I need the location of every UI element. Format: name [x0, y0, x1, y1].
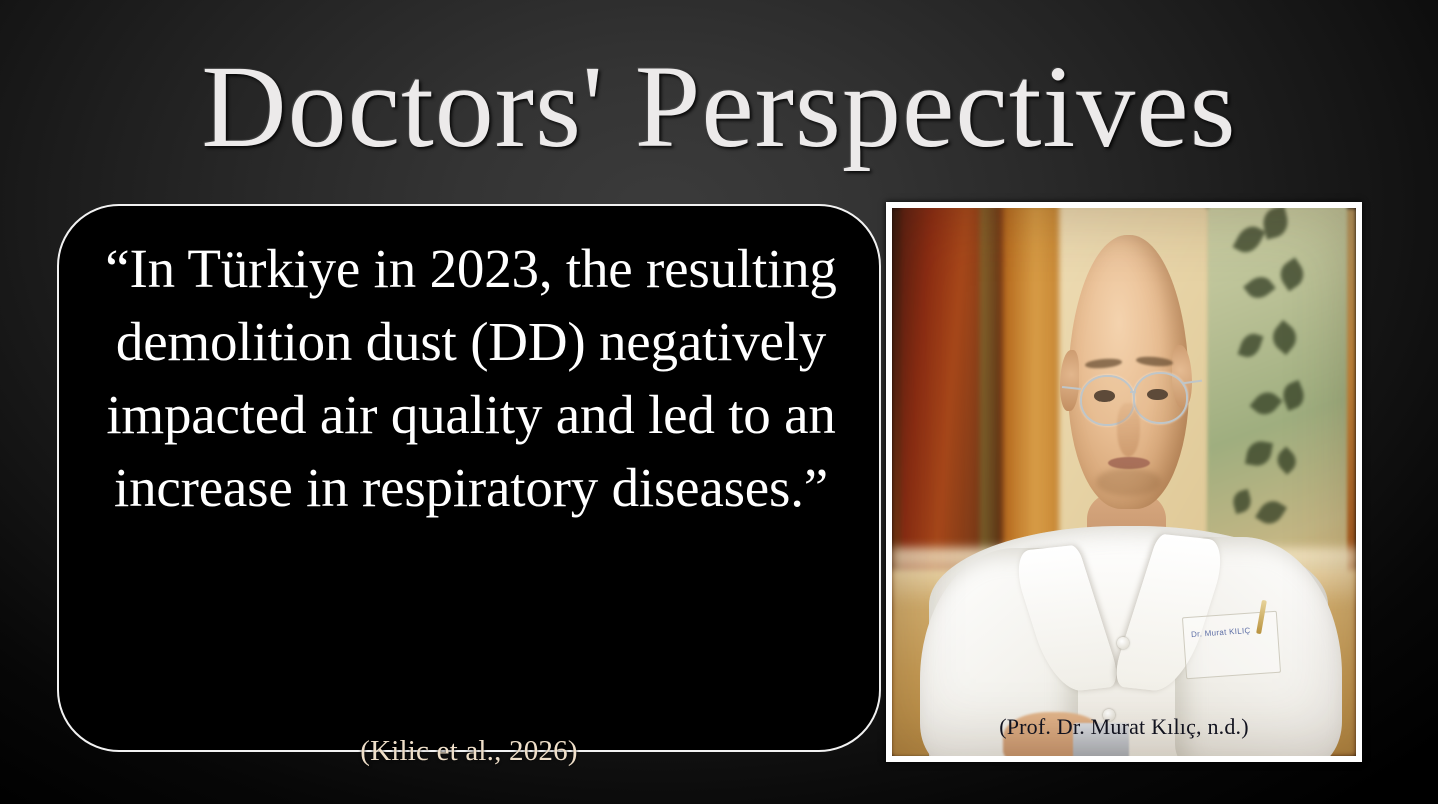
quote-citation: (Kilic et al., 2026)	[57, 735, 881, 768]
slide-canvas: Doctors' Perspectives “In Türkiye in 202…	[0, 0, 1438, 804]
chin-shadow	[1096, 468, 1161, 495]
doctor-photo-frame: Dr. Murat KILIÇ	[886, 202, 1362, 762]
doctor-photo: Dr. Murat KILIÇ	[892, 208, 1356, 756]
glasses-lens-right	[1133, 372, 1188, 423]
page-title: Doctors' Perspectives	[0, 48, 1438, 166]
quote-card: “In Türkiye in 2023, the resulting demol…	[57, 204, 881, 752]
photo-caption: (Prof. Dr. Murat Kılıç, n.d.)	[892, 714, 1356, 740]
ear-left	[1060, 350, 1079, 410]
mouth	[1108, 457, 1150, 469]
doctor-figure: Dr. Murat KILIÇ	[892, 208, 1356, 756]
quote-text: “In Türkiye in 2023, the resulting demol…	[85, 232, 857, 525]
coat-button-upper	[1117, 637, 1129, 649]
coat-pocket	[1182, 610, 1281, 679]
glasses-bridge	[1130, 391, 1136, 401]
